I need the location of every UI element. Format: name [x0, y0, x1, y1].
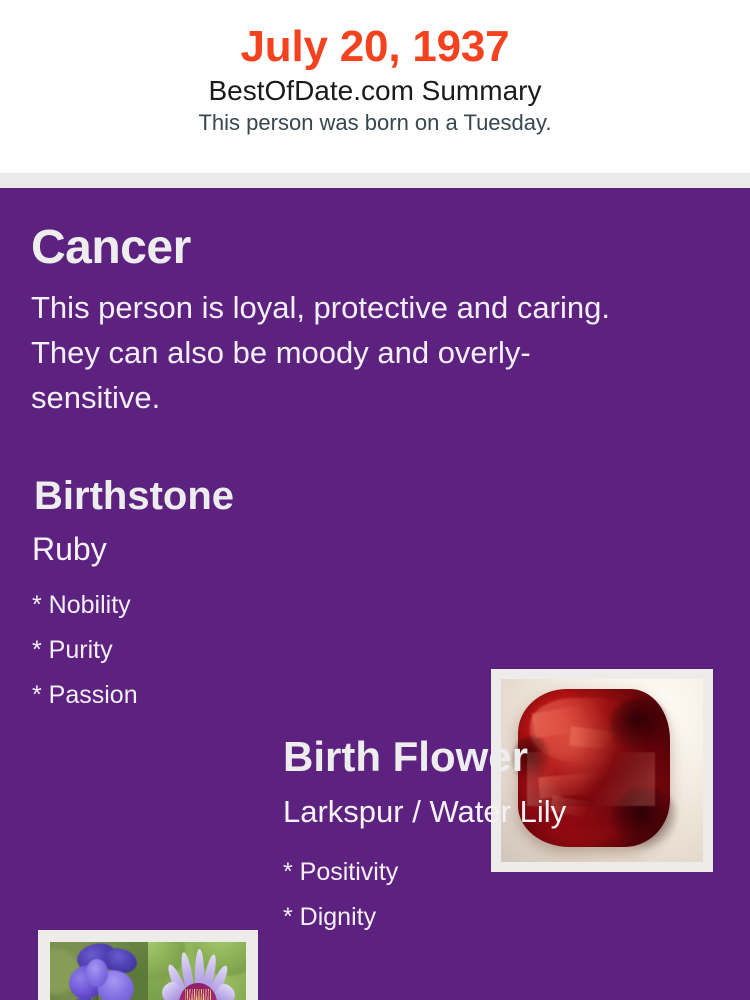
header-divider — [0, 173, 750, 188]
list-item: * Passion — [32, 673, 138, 718]
summary-card: July 20, 1937 BestOfDate.com Summary Thi… — [0, 0, 750, 1000]
birth-flower-trait-list: * Positivity * Dignity — [283, 850, 398, 940]
birth-flower-name: Larkspur / Water Lily — [283, 796, 566, 827]
birthstone-trait-list: * Nobility * Purity * Passion — [32, 583, 138, 718]
list-item: * Purity — [32, 628, 138, 673]
ruby-photo-inner — [501, 679, 703, 862]
birth-flower-photo-pair — [38, 930, 258, 1000]
list-item: * Dignity — [283, 895, 398, 940]
birth-weekday-note: This person was born on a Tuesday. — [0, 111, 750, 135]
page-title-date: July 20, 1937 — [0, 24, 750, 70]
larkspur-photo — [50, 942, 148, 1000]
flower-photo-inner — [50, 942, 246, 1000]
water-lily-photo — [148, 942, 246, 1000]
birthstone-heading: Birthstone — [34, 476, 234, 516]
site-summary-label: BestOfDate.com Summary — [0, 76, 750, 107]
card-header: July 20, 1937 BestOfDate.com Summary Thi… — [0, 0, 750, 173]
zodiac-description: This person is loyal, protective and car… — [31, 286, 659, 421]
zodiac-panel: Cancer This person is loyal, protective … — [0, 188, 750, 1000]
list-item: * Nobility — [32, 583, 138, 628]
birth-flower-heading: Birth Flower — [283, 736, 528, 778]
zodiac-sign-heading: Cancer — [31, 224, 191, 272]
birthstone-name: Ruby — [32, 533, 107, 565]
list-item: * Positivity — [283, 850, 398, 895]
